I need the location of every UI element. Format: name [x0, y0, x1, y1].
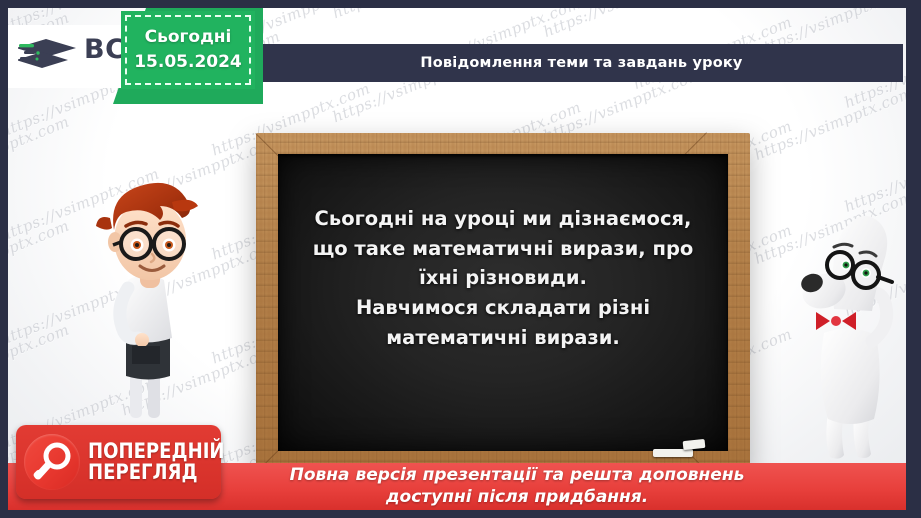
blackboard-surface: Сьогодні на уроці ми дізнаємося, що таке…	[278, 154, 728, 451]
preview-button-line2: ПЕРЕГЛЯД	[88, 462, 225, 483]
dog-with-glasses-character	[798, 213, 906, 463]
header-bar: Повідомлення теми та завдань уроку	[260, 44, 903, 82]
chalk-piece-1	[653, 449, 693, 457]
preview-button-line1: ПОПЕРЕДНІЙ	[88, 441, 225, 462]
preview-button[interactable]: ПОПЕРЕДНІЙ ПЕРЕГЛЯД	[16, 425, 221, 499]
slide-root: https://vsimpptx.comhttps://vsimpptx.com…	[0, 0, 921, 518]
bow-tie	[816, 312, 856, 330]
boy-with-glasses-character	[70, 168, 210, 418]
slide-page: https://vsimpptx.comhttps://vsimpptx.com…	[8, 8, 906, 510]
page-title: Повідомлення теми та завдань уроку	[420, 55, 742, 71]
bottom-banner-text: Повна версія презентації та решта доповн…	[290, 465, 745, 508]
magnifier-icon	[24, 434, 80, 490]
graduation-cap-icon	[18, 35, 80, 79]
date-badge-label: Сьогодні	[145, 25, 232, 50]
blackboard-text: Сьогодні на уроці ми дізнаємося, що таке…	[296, 204, 710, 352]
date-badge-value: 15.05.2024	[134, 50, 242, 75]
date-badge: Сьогодні 15.05.2024	[121, 11, 255, 89]
blackboard: Сьогодні на уроці ми дізнаємося, що таке…	[256, 133, 750, 473]
